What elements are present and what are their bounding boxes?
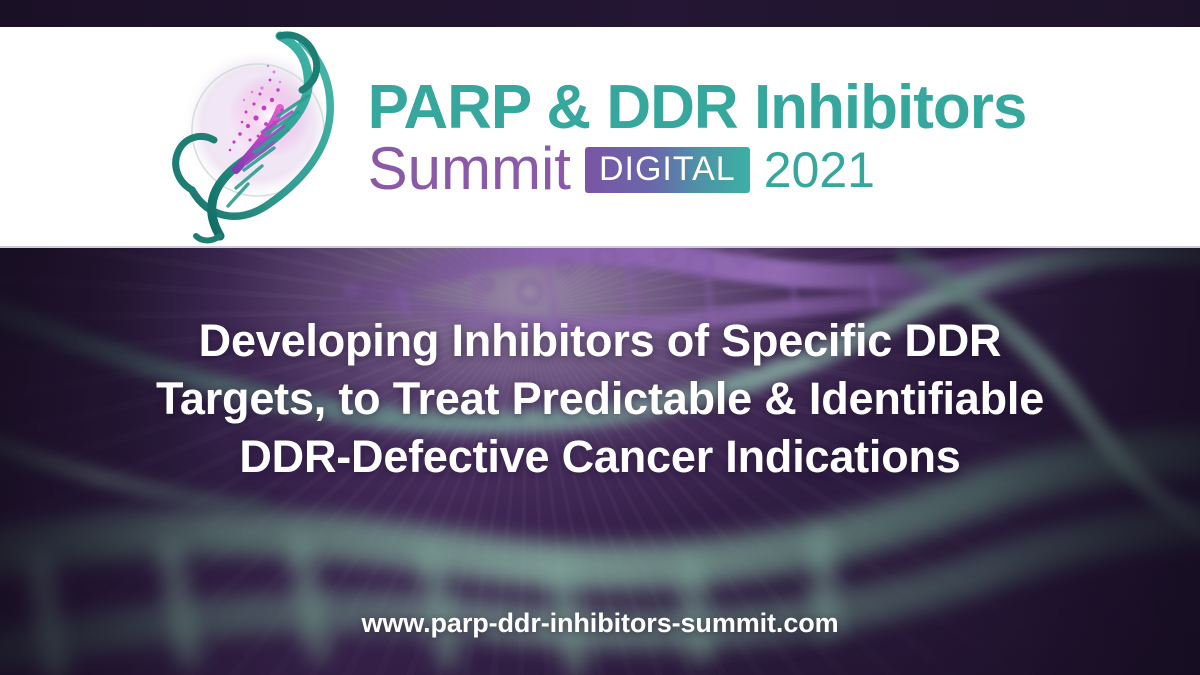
top-strip xyxy=(0,0,1200,27)
dna-helix-logo-icon xyxy=(162,30,362,245)
logo-wordmark: PARP & DDR Inhibitors Summit DIGITAL 202… xyxy=(368,76,1027,198)
page-title: Developing Inhibitors of Specific DDR Ta… xyxy=(50,312,1150,486)
logo-band: PARP & DDR Inhibitors Summit DIGITAL 202… xyxy=(0,27,1200,248)
website-url[interactable]: www.parp-ddr-inhibitors-summit.com xyxy=(0,608,1200,639)
title-line-3: DDR-Defective Cancer Indications xyxy=(50,428,1150,486)
logo-line-secondary: Summit DIGITAL 2021 xyxy=(368,139,1027,199)
promo-slide: PARP & DDR Inhibitors Summit DIGITAL 202… xyxy=(0,0,1200,675)
logo-parp-ddr: PARP & DDR xyxy=(368,73,738,142)
logo-line-primary: PARP & DDR Inhibitors xyxy=(368,76,1027,140)
title-line-1: Developing Inhibitors of Specific DDR xyxy=(50,312,1150,370)
title-line-2: Targets, to Treat Predictable & Identifi… xyxy=(50,370,1150,428)
logo-summit-word: Summit xyxy=(368,139,571,199)
digital-badge-label: DIGITAL xyxy=(599,152,736,186)
event-logo: PARP & DDR Inhibitors Summit DIGITAL 202… xyxy=(162,30,1027,245)
digital-badge: DIGITAL xyxy=(585,147,750,193)
logo-inhibitors: Inhibitors xyxy=(754,73,1026,142)
logo-year: 2021 xyxy=(764,145,875,195)
